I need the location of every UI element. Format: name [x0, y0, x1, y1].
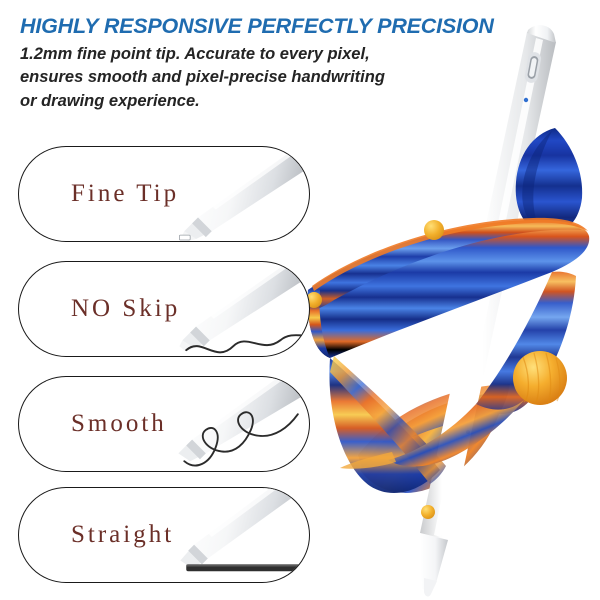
feature-card-straight[interactable]: Straight — [18, 487, 310, 583]
feature-label: Fine Tip — [71, 180, 179, 208]
feature-card-smooth[interactable]: Smooth — [18, 376, 310, 472]
feature-card-no-skip[interactable]: NO Skip — [18, 261, 310, 357]
stylus-straight-line-icon — [175, 488, 310, 582]
feature-label: Smooth — [71, 410, 167, 438]
stylus-wavy-stroke-icon — [175, 262, 310, 356]
page-subtitle: 1.2mm fine point tip. Accurate to every … — [20, 43, 390, 113]
blue-led-indicator — [524, 98, 528, 102]
feature-label: NO Skip — [71, 295, 180, 323]
page-title: HIGHLY RESPONSIVE PERFECTLY PRECISION — [20, 14, 540, 39]
stylus-cursive-loop-icon — [175, 377, 310, 471]
product-feature-image: HIGHLY RESPONSIVE PERFECTLY PRECISION 1.… — [0, 0, 600, 600]
stylus-tip-dot-icon — [175, 147, 310, 241]
feature-card-fine-tip[interactable]: Fine Tip — [18, 146, 310, 242]
feature-label: Straight — [71, 521, 174, 549]
